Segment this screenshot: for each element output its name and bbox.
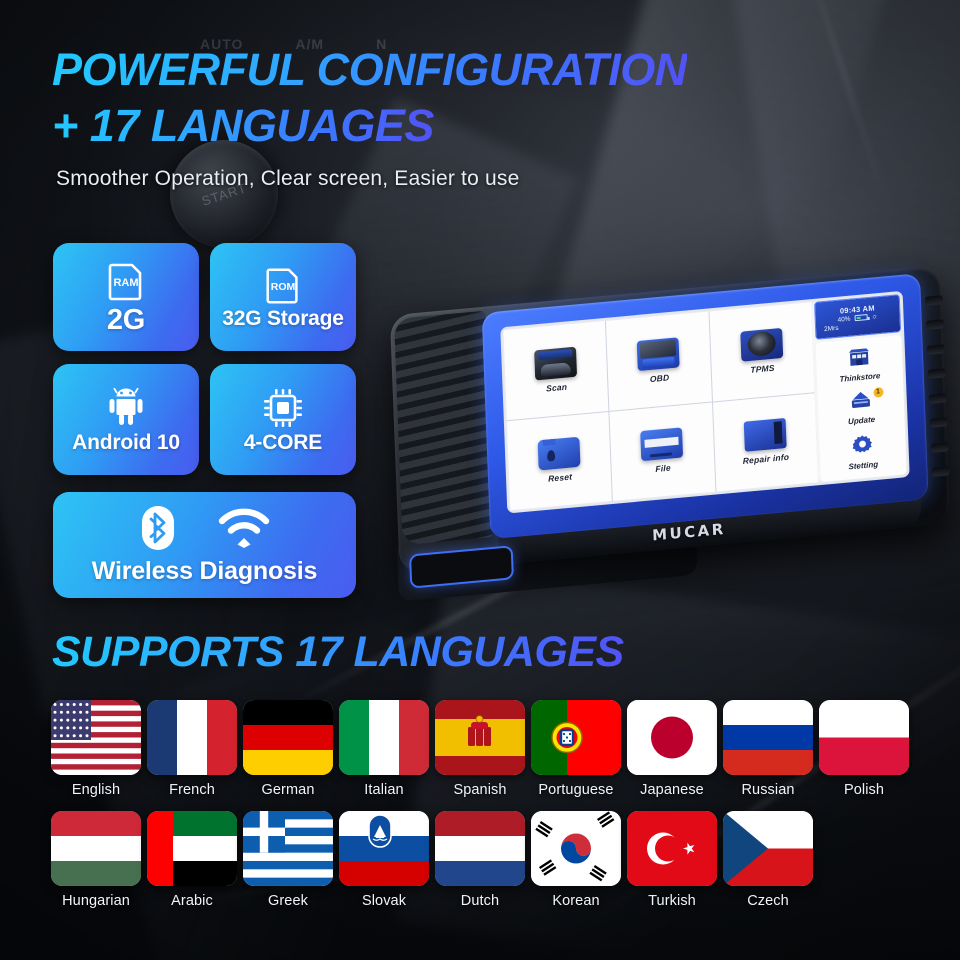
tpms-tire-icon [740, 328, 783, 362]
gear-icon [852, 433, 873, 460]
flag-icon-es [435, 700, 525, 775]
flag-icon-it [339, 700, 429, 775]
flag-label: Italian [364, 782, 403, 798]
store-icon [848, 347, 871, 372]
flag-grid: English French German Italian Spanish [48, 700, 928, 909]
flag-label: Hungarian [62, 893, 130, 909]
wireless-icon-group [138, 504, 272, 557]
oil-can-icon [538, 437, 581, 471]
spec-card-label: 2G [107, 304, 145, 337]
brightness-icon: ☼ [871, 313, 878, 321]
product-banner: AUTO A/M N POWERFUL CONFIGURATION + 17 L… [0, 0, 960, 960]
cpu-chip-icon [260, 385, 306, 431]
spec-card-cpu: 4-CORE [210, 364, 356, 475]
flag-icon-jp [627, 700, 717, 775]
sidebar-label: Stetting [848, 459, 878, 471]
spec-card-label: Wireless Diagnosis [92, 557, 317, 586]
upload-icon [848, 389, 873, 414]
flag-label: Greek [268, 893, 308, 909]
flag-cell-kr: Korean [528, 811, 624, 909]
app-label: Reset [548, 472, 572, 484]
flag-label: French [169, 782, 215, 798]
sidebar-label: Thinkstore [839, 371, 880, 384]
wifi-icon [216, 507, 272, 554]
flag-cell-ru: Russian [720, 700, 816, 798]
languages-heading: SUPPORTS 17 LANGUAGES [52, 631, 624, 674]
spec-card-rom: ROM 32G Storage [210, 243, 356, 351]
sidebar-item-setting[interactable]: Stetting [847, 432, 878, 471]
flag-icon-kr [531, 811, 621, 886]
flag-icon-tr [627, 811, 717, 886]
flag-icon-cz [723, 811, 813, 886]
battery-icon [854, 314, 867, 321]
app-tile-repair-info[interactable]: Repair info [713, 393, 818, 492]
device-sidebar: 09:43 AM 40% ☼ 2Mrs [814, 294, 907, 482]
flag-icon-hu [51, 811, 141, 886]
bluetooth-icon [138, 504, 178, 557]
sim-icon-text: ROM [271, 281, 296, 293]
flag-label: Polish [844, 782, 884, 798]
spec-card-label: 4-CORE [244, 431, 322, 455]
flag-icon-nl [435, 811, 525, 886]
flag-icon-pl [819, 700, 909, 775]
book-icon [744, 418, 787, 452]
flag-cell-fr: French [144, 700, 240, 798]
device-grip [394, 311, 494, 545]
status-battery-percent: 40% [837, 315, 850, 323]
file-icon [641, 428, 684, 462]
app-tile-reset[interactable]: Reset [507, 411, 612, 510]
flag-label: Russian [741, 782, 794, 798]
app-tile-obd[interactable]: OBD [606, 312, 711, 411]
flag-cell-ae: Arabic [144, 811, 240, 909]
flag-icon-de [243, 700, 333, 775]
scan-icon [534, 346, 577, 380]
flag-icon-gr [243, 811, 333, 886]
app-label: Scan [546, 381, 567, 393]
flag-icon-ru [723, 700, 813, 775]
flag-icon-si [339, 811, 429, 886]
flag-label: Spanish [453, 782, 506, 798]
app-label: Repair info [743, 452, 790, 466]
flag-cell-pt: Portuguese [528, 700, 624, 798]
android-icon [102, 385, 150, 431]
spec-card-label: 32G Storage [222, 307, 344, 331]
flag-label: Turkish [648, 893, 696, 909]
flag-label: Arabic [171, 893, 213, 909]
app-label: OBD [650, 372, 670, 384]
headline-line-2: + 17 LANGUAGES [52, 103, 434, 148]
flag-cell-gr: Greek [240, 811, 336, 909]
flag-label: Korean [552, 893, 599, 909]
app-label: TPMS [750, 362, 775, 374]
device-screen: Scan OBD TPMS Reset [500, 291, 909, 514]
spec-card-android: Android 10 [53, 364, 199, 475]
status-widget[interactable]: 09:43 AM 40% ☼ 2Mrs [814, 294, 901, 340]
flag-label: Portuguese [538, 782, 613, 798]
device-side-menu: Thinkstore 1 Update [816, 335, 907, 482]
flag-cell-es: Spanish [432, 700, 528, 798]
flag-icon-ae [147, 811, 237, 886]
flag-cell-jp: Japanese [624, 700, 720, 798]
flag-icon-us [51, 700, 141, 775]
flag-label: Japanese [640, 782, 704, 798]
update-badge: 1 [873, 386, 883, 397]
flag-label: Czech [747, 893, 789, 909]
flag-icon-fr [147, 700, 237, 775]
flag-cell-hu: Hungarian [48, 811, 144, 909]
app-tile-tpms[interactable]: TPMS [709, 302, 814, 401]
headline-line-1: POWERFUL CONFIGURATION [52, 47, 687, 92]
sidebar-item-update[interactable]: 1 Update [847, 389, 875, 425]
app-label: File [655, 463, 671, 474]
flag-label: Dutch [461, 893, 499, 909]
flag-icon-pt [531, 700, 621, 775]
flag-cell-de: German [240, 700, 336, 798]
flag-cell-si: Slovak [336, 811, 432, 909]
flag-cell-pl: Polish [816, 700, 912, 798]
flag-cell-it: Italian [336, 700, 432, 798]
device-app-grid: Scan OBD TPMS Reset [503, 302, 818, 510]
obd-icon [637, 337, 680, 371]
sidebar-label: Update [848, 414, 875, 425]
flag-label: Slovak [362, 893, 406, 909]
flag-cell-us: English [48, 700, 144, 798]
scanner-device: Scan OBD TPMS Reset [386, 278, 960, 578]
status-hours: 2Mrs [824, 324, 839, 332]
flag-label: German [262, 782, 315, 798]
app-tile-file[interactable]: File [610, 402, 715, 501]
flag-label: English [72, 782, 120, 798]
flag-cell-cz: Czech [720, 811, 816, 909]
app-tile-scan[interactable]: Scan [503, 321, 608, 420]
flag-cell-tr: Turkish [624, 811, 720, 909]
sim-card-icon: ROM [261, 263, 305, 307]
sidebar-item-thinkstore[interactable]: Thinkstore [838, 346, 880, 384]
headline-subtitle: Smoother Operation, Clear screen, Easier… [56, 167, 519, 191]
sim-card-icon: RAM [103, 258, 149, 304]
spec-card-label: Android 10 [72, 431, 180, 455]
sim-icon-text: RAM [113, 277, 138, 289]
flag-cell-nl: Dutch [432, 811, 528, 909]
spec-card-ram: RAM 2G [53, 243, 199, 351]
spec-card-wireless: Wireless Diagnosis [53, 492, 356, 598]
